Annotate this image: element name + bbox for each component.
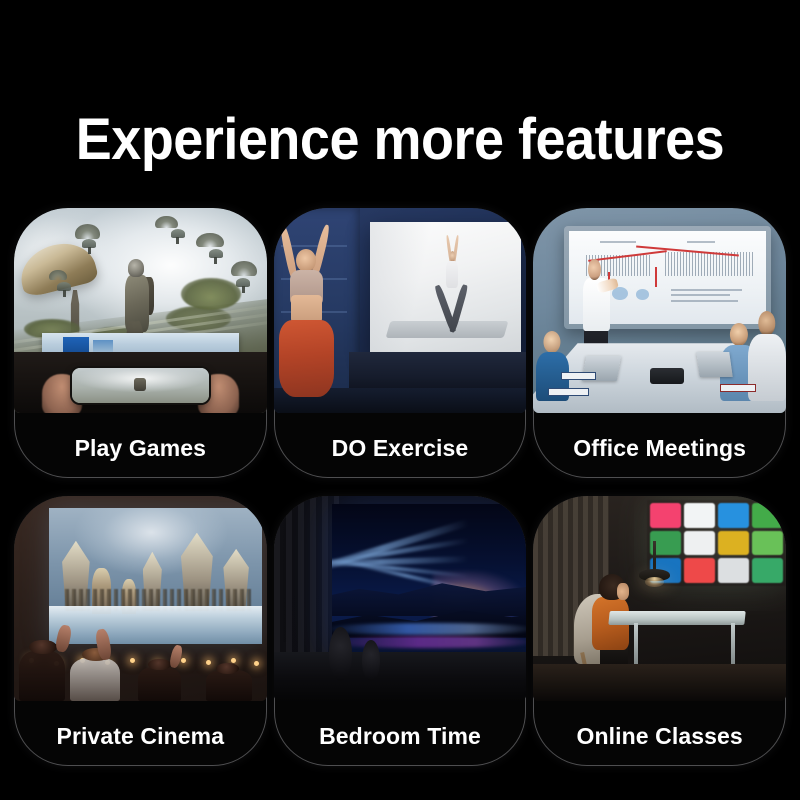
notepad (720, 384, 755, 392)
feature-card-grid: Play Games (14, 208, 786, 766)
feature-label-bedroom-time: Bedroom Time (274, 723, 527, 750)
projected-wallpaper (332, 504, 527, 656)
feature-card-bedroom-time[interactable]: Bedroom Time (274, 496, 527, 766)
exercising-person (274, 224, 345, 400)
furniture-silhouette (329, 627, 352, 680)
office-meetings-scene (533, 208, 786, 413)
feature-card-play-games[interactable]: Play Games (14, 208, 267, 478)
desk-lamp (639, 541, 669, 594)
conference-phone (650, 368, 684, 384)
notepad (561, 372, 596, 380)
page-title: Experience more features (28, 105, 772, 175)
feature-card-online-classes[interactable]: Online Classes (533, 496, 786, 766)
furniture-silhouette (362, 640, 380, 681)
smartphone (72, 368, 208, 403)
feature-card-do-exercise[interactable]: DO Exercise (274, 208, 527, 478)
feature-card-private-cinema[interactable]: Private Cinema (14, 496, 267, 766)
notepad (548, 388, 588, 396)
page-root: Experience more features (0, 0, 800, 800)
online-classes-scene (533, 496, 786, 701)
feature-label-do-exercise: DO Exercise (274, 435, 527, 462)
audience (14, 611, 267, 701)
feature-label-private-cinema: Private Cinema (14, 723, 267, 750)
feature-label-office-meetings: Office Meetings (533, 435, 786, 462)
feature-label-play-games: Play Games (14, 435, 267, 462)
feature-card-office-meetings[interactable]: Office Meetings (533, 208, 786, 478)
play-games-scene (14, 208, 267, 413)
private-cinema-scene (14, 496, 267, 701)
do-exercise-scene (274, 208, 527, 413)
feature-label-online-classes: Online Classes (533, 723, 786, 750)
desk (608, 611, 746, 625)
bedroom-time-scene (274, 496, 527, 701)
laptop (696, 352, 732, 377)
projected-yoga-video (370, 222, 522, 353)
